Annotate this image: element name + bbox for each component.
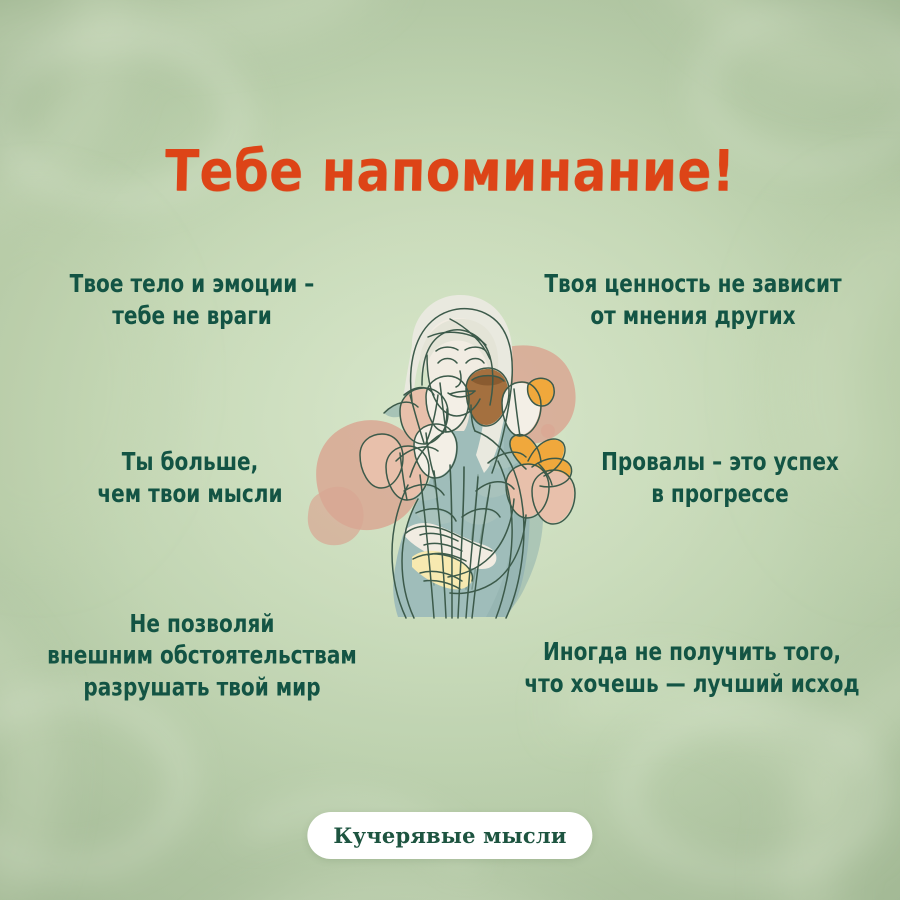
brand-badge[interactable]: Кучерявые мысли — [307, 812, 592, 859]
brand-badge-label: Кучерявые мысли — [333, 823, 566, 848]
page-title: Тебе напоминание! — [0, 138, 900, 204]
quote-failures: Провалы – это успех в прогрессе — [565, 447, 875, 511]
quote-external-circumstances: Не позволяй внешним обстоятельствам разр… — [18, 609, 387, 705]
quote-more-than-thoughts: Ты больше, чем твои мысли — [45, 447, 336, 511]
woman-holding-bouquet-illustration — [300, 285, 610, 620]
poster-canvas: Тебе напоминание! Твое тело и эмоции – т… — [0, 0, 900, 900]
quote-best-outcome: Иногда не получить того, что хочешь — лу… — [502, 637, 882, 701]
